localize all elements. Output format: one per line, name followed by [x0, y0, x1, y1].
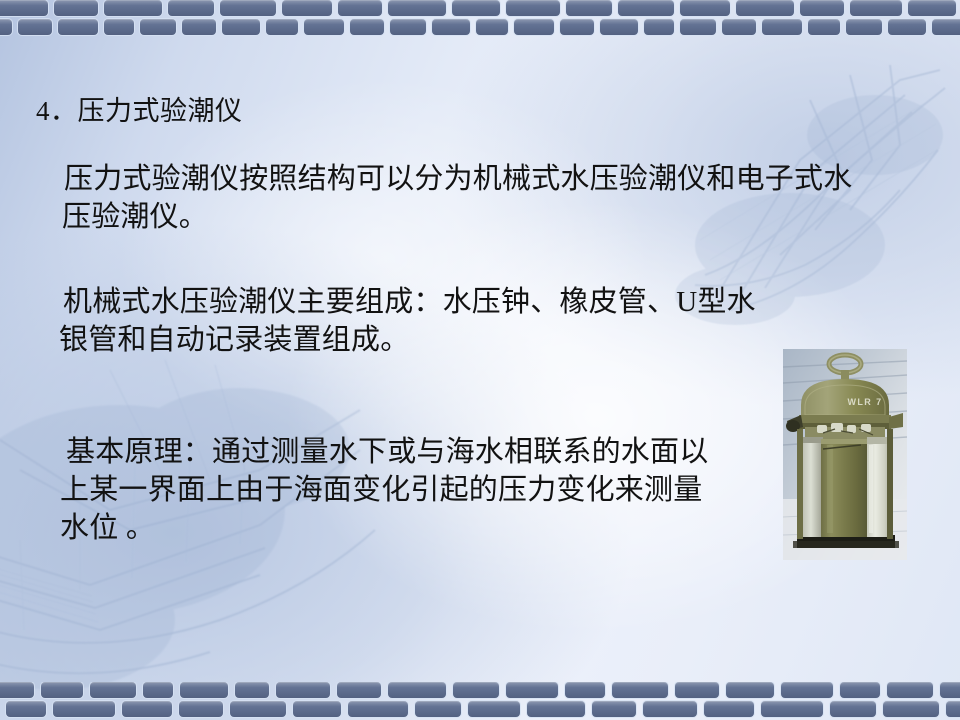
brick — [180, 682, 228, 698]
body-paragraph-1: 压力式验潮仪按照结构可以分为机械式水压验潮仪和电子式水压验潮仪。 — [62, 160, 862, 236]
body-paragraph-3: 基本原理：通过测量水下或与海水相联系的水面以上某一界面上由于海面变化引起的压力变… — [60, 433, 710, 547]
brick — [888, 19, 926, 35]
brick — [830, 701, 876, 717]
brick — [612, 682, 668, 698]
top-brick-border — [0, 0, 960, 38]
brick — [230, 701, 286, 717]
brick — [808, 19, 840, 35]
brick — [883, 701, 939, 717]
brick — [54, 0, 98, 16]
brick — [840, 682, 880, 698]
brick — [618, 0, 674, 16]
brick — [565, 682, 605, 698]
brick — [0, 682, 34, 698]
brick — [566, 0, 612, 16]
brick — [452, 0, 500, 16]
brick — [476, 19, 508, 35]
brick — [266, 19, 298, 35]
brick — [675, 682, 719, 698]
brick — [644, 19, 674, 35]
brick — [506, 0, 560, 16]
brick — [908, 0, 956, 16]
brick — [415, 701, 461, 717]
brick — [41, 682, 83, 698]
brick — [182, 19, 216, 35]
brick — [282, 0, 332, 16]
bottom-brick-border — [0, 682, 960, 720]
brick — [704, 701, 754, 717]
brick — [946, 701, 960, 717]
brick — [348, 701, 408, 717]
brick-row — [6, 701, 960, 718]
brick-row — [0, 682, 960, 699]
brick — [506, 682, 558, 698]
brick — [762, 19, 802, 35]
brick — [350, 19, 384, 35]
brick — [643, 701, 697, 717]
brick — [514, 19, 554, 35]
brick — [781, 682, 833, 698]
brick — [388, 682, 446, 698]
brick-row — [0, 19, 960, 36]
brick — [0, 19, 12, 35]
brick — [179, 701, 223, 717]
brick — [680, 19, 716, 35]
brick — [600, 19, 638, 35]
body-paragraph-2: 机械式水压验潮仪主要组成：水压钟、橡皮管、U型水银管和自动记录装置组成。 — [59, 283, 779, 359]
brick — [235, 682, 269, 698]
brick — [104, 19, 134, 35]
brick — [468, 701, 520, 717]
brick — [0, 0, 48, 16]
brick — [761, 701, 823, 717]
brick — [432, 19, 470, 35]
brick — [388, 0, 446, 16]
brick — [722, 19, 756, 35]
brick — [887, 682, 933, 698]
brick — [140, 19, 176, 35]
instrument-photo-graphic: WLR 7 — [783, 349, 907, 560]
brick — [6, 701, 46, 717]
brick — [726, 682, 774, 698]
brick — [143, 682, 173, 698]
instrument-photo: WLR 7 — [783, 349, 907, 560]
brick — [222, 19, 260, 35]
slide-canvas: 4．压力式验潮仪 压力式验潮仪按照结构可以分为机械式水压验潮仪和电子式水压验潮仪… — [0, 0, 960, 720]
brick — [932, 19, 960, 35]
brick — [846, 19, 882, 35]
brick — [220, 0, 276, 16]
brick — [453, 682, 499, 698]
brick — [736, 0, 794, 16]
brick — [337, 682, 381, 698]
brick — [850, 0, 902, 16]
brick — [560, 19, 594, 35]
brick — [53, 701, 115, 717]
brick — [304, 19, 344, 35]
svg-text:WLR 7: WLR 7 — [848, 397, 883, 407]
brick — [592, 701, 636, 717]
brick — [800, 0, 844, 16]
brick — [293, 701, 341, 717]
brick-row — [0, 0, 960, 17]
brick — [104, 0, 162, 16]
page-title: 4．压力式验潮仪 — [36, 89, 243, 128]
brick — [276, 682, 330, 698]
brick — [168, 0, 214, 16]
brick — [390, 19, 426, 35]
brick — [338, 0, 382, 16]
brick — [680, 0, 730, 16]
brick — [58, 19, 98, 35]
brick — [940, 682, 960, 698]
brick — [18, 19, 52, 35]
brick — [527, 701, 585, 717]
brick — [122, 701, 172, 717]
brick — [90, 682, 136, 698]
